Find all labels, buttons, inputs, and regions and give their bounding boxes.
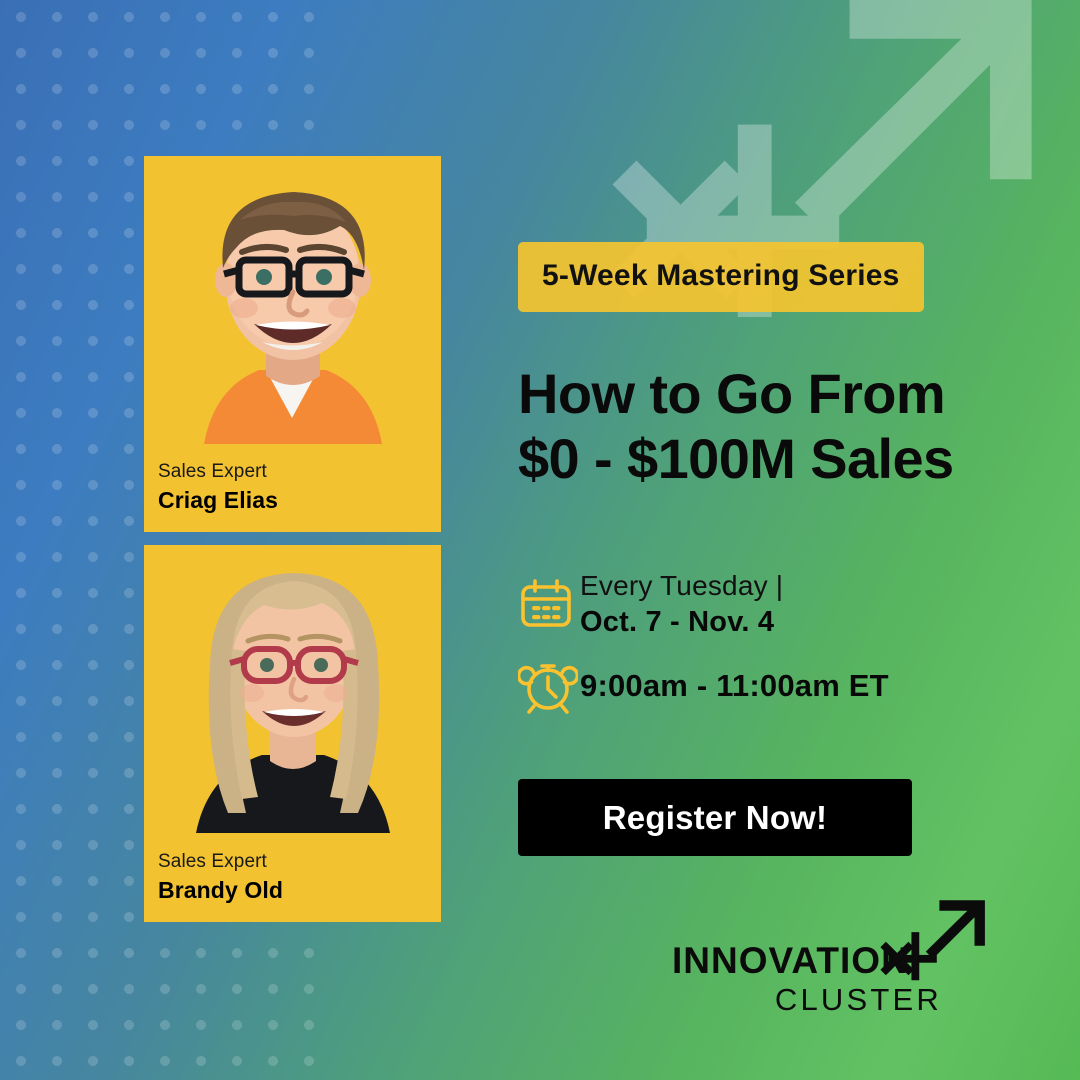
time-row: 9:00am - 11:00am ET	[518, 656, 1038, 716]
speaker-caption: Sales Expert Criag Elias	[158, 460, 431, 516]
register-now-button[interactable]: Register Now!	[518, 779, 912, 856]
speaker-card: Sales Expert Criag Elias	[144, 156, 441, 532]
portrait-illustration-male	[144, 156, 441, 444]
date-row: Every Tuesday | Oct. 7 - Nov. 4	[518, 568, 1038, 642]
headline-line-1: How to Go From	[518, 362, 945, 425]
brand-logo: INNOVATION CLUSTER	[672, 930, 1042, 1030]
event-details: Every Tuesday | Oct. 7 - Nov. 4	[518, 568, 1038, 730]
time-range-label: 9:00am - 11:00am ET	[580, 668, 889, 704]
date-text: Every Tuesday | Oct. 7 - Nov. 4	[580, 568, 783, 642]
calendar-icon	[518, 577, 580, 633]
speaker-card: Sales Expert Brandy Old	[144, 545, 441, 922]
promo-poster: Sales Expert Criag Elias	[0, 0, 1080, 1080]
speaker-name: Brandy Old	[158, 875, 431, 906]
recurrence-label: Every Tuesday |	[580, 568, 783, 604]
date-range-label: Oct. 7 - Nov. 4	[580, 604, 783, 642]
alarm-clock-icon	[518, 656, 580, 716]
speaker-photo	[144, 156, 441, 444]
innovation-cluster-arrow-star-icon	[877, 886, 1007, 1016]
speaker-photo	[144, 545, 441, 833]
speaker-caption: Sales Expert Brandy Old	[158, 850, 431, 906]
speaker-role: Sales Expert	[158, 460, 431, 485]
time-text: 9:00am - 11:00am ET	[580, 668, 889, 704]
speaker-name: Criag Elias	[158, 485, 431, 516]
headline-line-2: $0 - $100M Sales	[518, 427, 1048, 492]
page-title: How to Go From $0 - $100M Sales	[518, 362, 1048, 492]
series-badge: 5-Week Mastering Series	[518, 242, 924, 312]
speaker-role: Sales Expert	[158, 850, 431, 875]
portrait-illustration-female	[144, 545, 441, 833]
